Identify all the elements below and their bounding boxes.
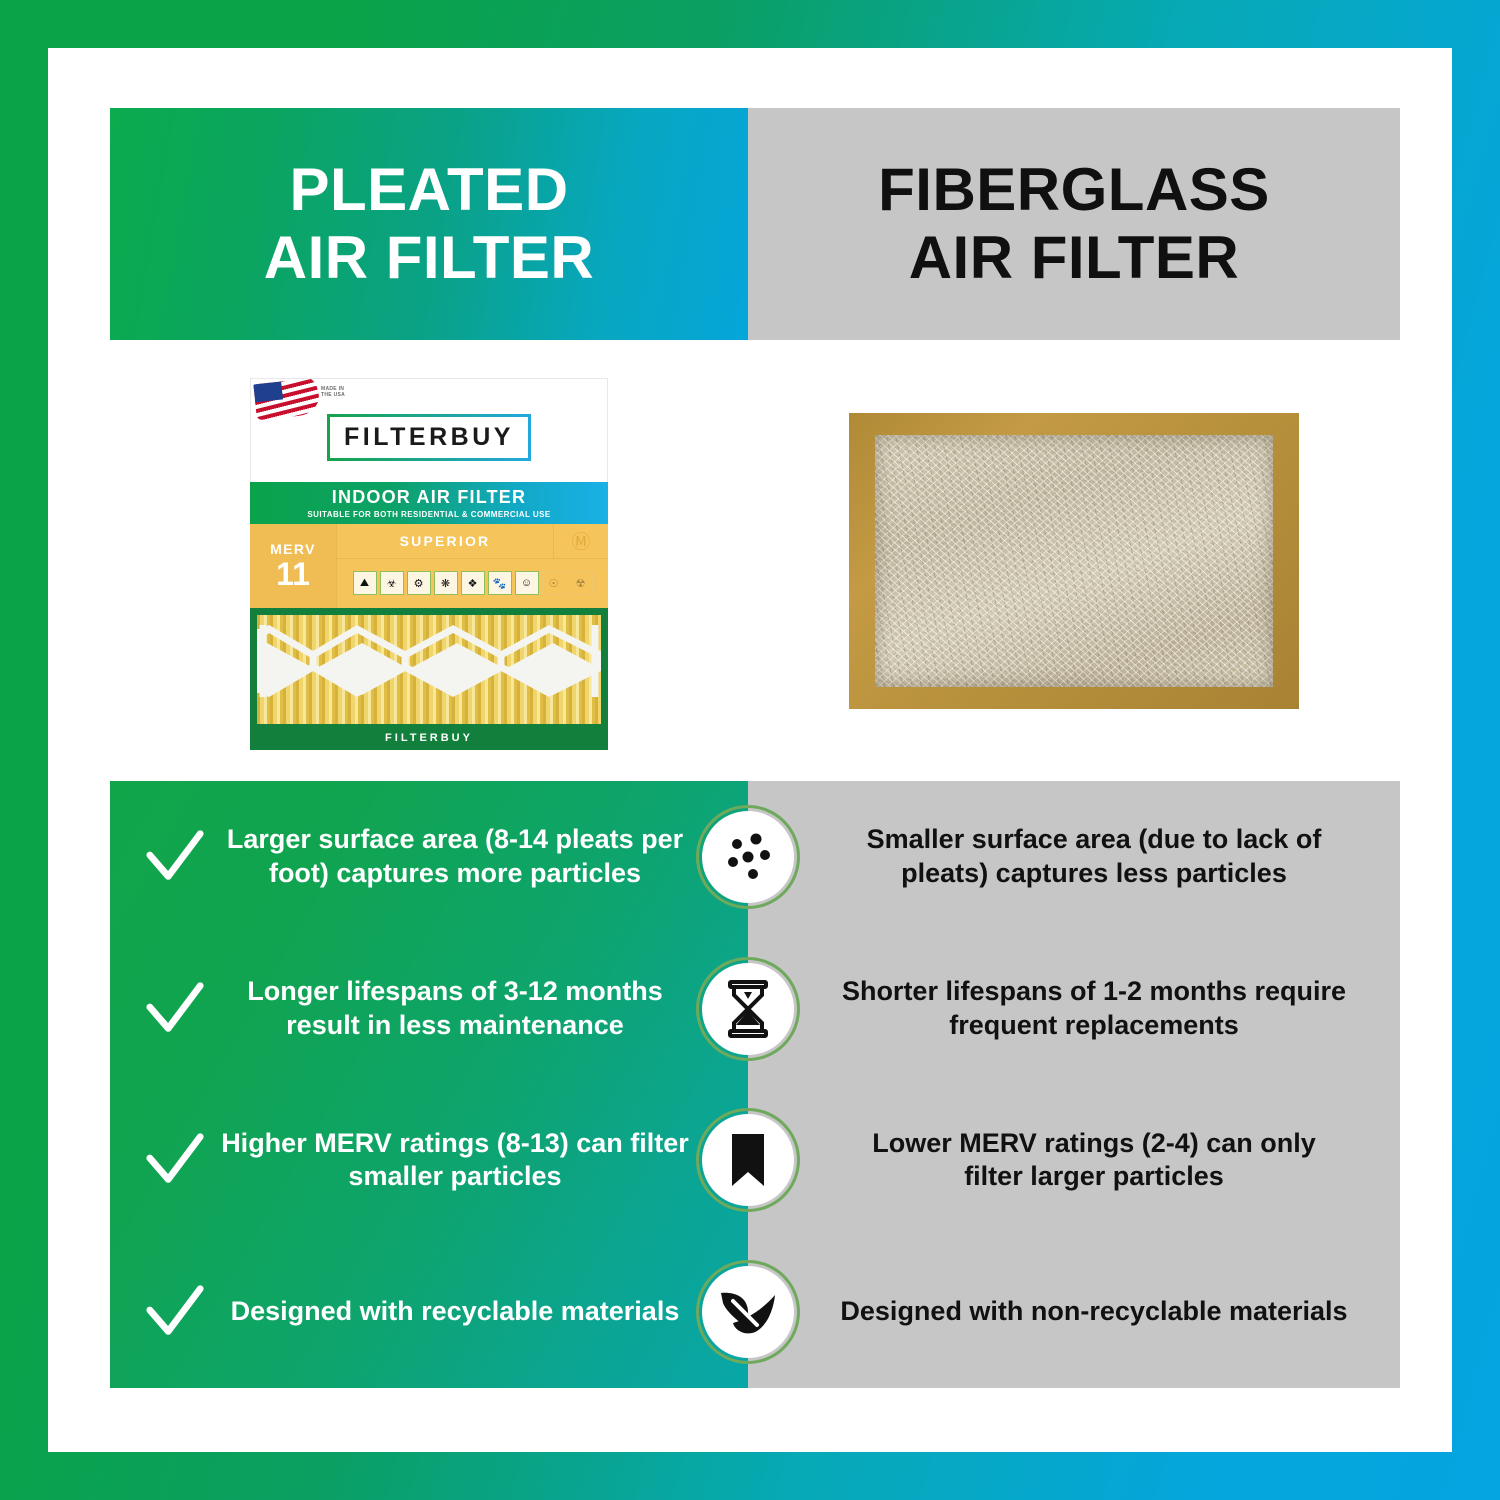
- merv-right-column: SUPERIOR Ⓜ ⛰ ☣ ⚙ ❋ ❖ 🐾 ☺: [337, 524, 608, 608]
- inner-canvas: PLEATED AIR FILTER FIBERGLASS AIR FILTER: [48, 48, 1452, 1452]
- checkmark-icon: [144, 1129, 206, 1191]
- pleated-filter-image-cell: MADE IN THE USA FILTERBUY INDOOR AIR FIL…: [110, 340, 748, 781]
- made-in-line1: MADE IN: [321, 386, 345, 392]
- odor-icon-disabled: ☉: [542, 571, 566, 595]
- row-right-cell: Smaller surface area (due to lack of ple…: [748, 823, 1400, 891]
- particles-icon: [696, 805, 800, 909]
- leaf-icon: [696, 1260, 800, 1364]
- checkmark-icon: [144, 1281, 206, 1343]
- bookmark-glyph: [718, 1128, 778, 1192]
- product-images-row: MADE IN THE USA FILTERBUY INDOOR AIR FIL…: [110, 340, 1400, 781]
- comparison-row: Larger surface area (8-14 pleats per foo…: [110, 781, 1400, 933]
- comparison-rows: Larger surface area (8-14 pleats per foo…: [110, 781, 1400, 1388]
- bookmark-icon: [696, 1108, 800, 1212]
- band-title: INDOOR AIR FILTER: [332, 487, 526, 508]
- row-right-text: Shorter lifespans of 1-2 months require …: [840, 975, 1348, 1043]
- row-left-text: Higher MERV ratings (8-13) can filter sm…: [214, 1127, 748, 1195]
- comparison-row: Longer lifespans of 3-12 months result i…: [110, 933, 1400, 1085]
- fiberglass-filter-image-cell: [748, 340, 1400, 781]
- header-fiberglass-title: FIBERGLASS AIR FILTER: [878, 156, 1270, 293]
- row-right-text: Designed with non-recyclable materials: [840, 1295, 1348, 1329]
- row-left-text: Designed with recyclable materials: [214, 1295, 748, 1329]
- checkmark-icon: [144, 826, 206, 888]
- ul-certification-seal-icon: Ⓜ: [553, 524, 608, 558]
- header-pleated-line1: PLEATED: [264, 156, 595, 224]
- hourglass-icon: [696, 957, 800, 1061]
- infographic-root: PLEATED AIR FILTER FIBERGLASS AIR FILTER: [0, 0, 1500, 1500]
- pollen-icon: ❋: [434, 571, 458, 595]
- tier-row: SUPERIOR Ⓜ: [337, 524, 608, 559]
- usa-flag-icon: [253, 377, 320, 419]
- band-subtitle: SUITABLE FOR BOTH RESIDENTIAL & COMMERCI…: [307, 510, 550, 519]
- header-pleated-title: PLEATED AIR FILTER: [264, 156, 595, 293]
- header-row: PLEATED AIR FILTER FIBERGLASS AIR FILTER: [110, 108, 1400, 340]
- checkmark-icon: [144, 978, 206, 1040]
- row-right-cell: Designed with non-recyclable materials: [748, 1295, 1400, 1329]
- merv-value: 11: [276, 558, 310, 590]
- particles-glyph: [711, 820, 785, 894]
- row-left-cell: Larger surface area (8-14 pleats per foo…: [110, 823, 748, 891]
- fiberglass-filter-product: [849, 413, 1299, 709]
- indoor-air-filter-band: INDOOR AIR FILTER SUITABLE FOR BOTH RESI…: [250, 482, 608, 524]
- pleated-label-top: MADE IN THE USA FILTERBUY: [250, 378, 608, 482]
- row-right-cell: Lower MERV ratings (2-4) can only filter…: [748, 1127, 1400, 1195]
- row-right-cell: Shorter lifespans of 1-2 months require …: [748, 975, 1400, 1043]
- dust-icon: ⛰: [353, 571, 377, 595]
- made-in-usa-text: MADE IN THE USA: [321, 386, 345, 399]
- row-left-text: Longer lifespans of 3-12 months result i…: [214, 975, 748, 1043]
- row-left-cell: Longer lifespans of 3-12 months result i…: [110, 975, 748, 1043]
- merv-row: MERV 11 SUPERIOR Ⓜ ⛰ ☣ ⚙: [250, 524, 608, 608]
- insect-icon: ☣: [380, 571, 404, 595]
- row-left-cell: Designed with recyclable materials: [110, 1281, 748, 1343]
- fiberglass-mesh: [875, 435, 1273, 687]
- merv-label: MERV: [270, 541, 316, 557]
- comparison-panel: Larger surface area (8-14 pleats per foo…: [110, 781, 1400, 1388]
- filterbuy-logo: FILTERBUY: [327, 414, 531, 461]
- tier-name: SUPERIOR: [337, 533, 553, 549]
- gear-icon: ⚙: [407, 571, 431, 595]
- made-in-line2: THE USA: [321, 392, 345, 398]
- merv-badge: MERV 11: [250, 524, 337, 608]
- comparison-row: Designed with recyclable materials Desig…: [110, 1236, 1400, 1388]
- header-fiberglass-line1: FIBERGLASS: [878, 156, 1270, 224]
- virus-icon-disabled: ☢: [569, 571, 593, 595]
- feature-icons-row: ⛰ ☣ ⚙ ❋ ❖ 🐾 ☺ ☉ ☢: [337, 559, 608, 608]
- row-left-text: Larger surface area (8-14 pleats per foo…: [214, 823, 748, 891]
- header-pleated-line2: AIR FILTER: [264, 224, 595, 292]
- row-right-text: Lower MERV ratings (2-4) can only filter…: [840, 1127, 1348, 1195]
- row-left-cell: Higher MERV ratings (8-13) can filter sm…: [110, 1127, 748, 1195]
- row-right-text: Smaller surface area (due to lack of ple…: [840, 823, 1348, 891]
- pleated-footer-brand: FILTERBUY: [250, 732, 608, 744]
- header-pleated: PLEATED AIR FILTER: [110, 108, 748, 340]
- comparison-row: Higher MERV ratings (8-13) can filter sm…: [110, 1085, 1400, 1237]
- bacteria-icon: ❖: [461, 571, 485, 595]
- leaf-glyph: [713, 1277, 783, 1347]
- header-fiberglass: FIBERGLASS AIR FILTER: [748, 108, 1400, 340]
- pleated-media-frame: FILTERBUY: [250, 608, 608, 750]
- header-fiberglass-line2: AIR FILTER: [878, 224, 1270, 292]
- filterbuy-logo-text: FILTERBUY: [344, 423, 514, 451]
- pleated-filter-product: MADE IN THE USA FILTERBUY INDOOR AIR FIL…: [250, 378, 608, 750]
- hourglass-glyph: [714, 975, 782, 1043]
- pet-dander-icon: 🐾: [488, 571, 512, 595]
- support-wire-grid: [257, 615, 601, 724]
- smoke-icon: ☺: [515, 571, 539, 595]
